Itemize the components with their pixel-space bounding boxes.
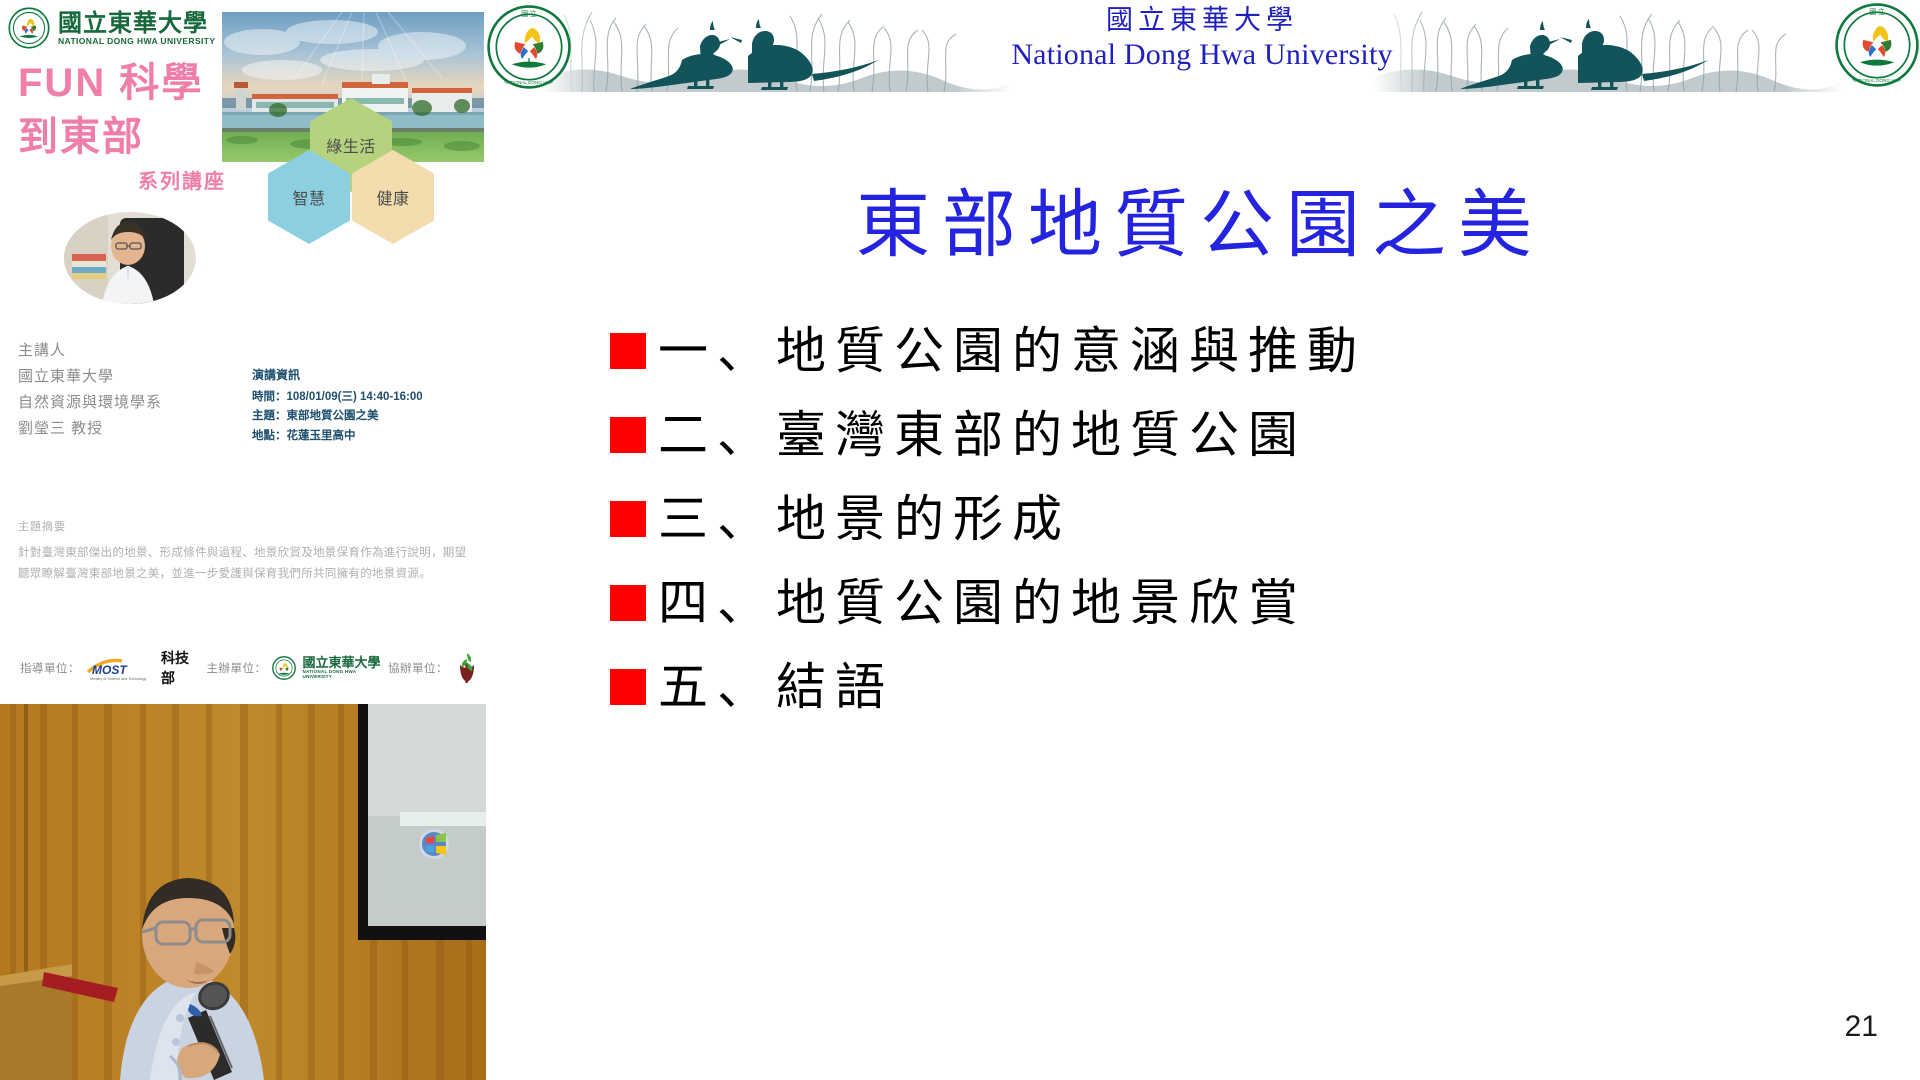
speaker-portrait <box>64 212 196 304</box>
poster-hexagon-group: 綠生活 智慧 健康 <box>262 98 462 228</box>
speaker-affiliation: 國立東華大學 <box>18 364 208 390</box>
bullet-marker-icon <box>610 585 646 621</box>
bullet-item: 二、臺灣東部的地質公園 <box>610 404 1870 466</box>
abstract-body: 針對臺灣東部傑出的地景、形成條件與過程、地景欣賞及地景保育作為進行說明，期望聽眾… <box>18 543 478 585</box>
bullet-marker-icon <box>610 333 646 369</box>
most-logo: MOST Ministry of Science and Technology <box>86 655 152 681</box>
host-name-cn: 國立東華大學 <box>302 657 382 670</box>
bullet-marker-icon <box>610 669 646 705</box>
bullet-marker-icon <box>610 417 646 453</box>
abstract-heading: 主題摘要 <box>18 518 478 534</box>
page-number: 21 <box>1845 1010 1878 1044</box>
advisor-label: 指導單位： <box>20 660 80 676</box>
slide-bullet-list: 一、地質公園的意涵與推動 二、臺灣東部的地質公園 三、地景的形成 四、地質公園的… <box>610 320 1870 740</box>
poster-logo-name-en: NATIONAL DONG HWA UNIVERSITY <box>58 37 215 46</box>
ndhu-seal-icon: 國 立 NATIONAL DONG HWA <box>1834 2 1920 88</box>
pheasant-grass-illustration-left <box>542 0 1012 92</box>
speaker-department: 自然資源與環境學系 <box>18 390 208 416</box>
event-poster: 國立東華大學 NATIONAL DONG HWA UNIVERSITY FUN … <box>0 0 486 702</box>
sprout-logo-icon <box>454 651 480 685</box>
svg-text:國 立: 國 立 <box>521 9 537 18</box>
svg-text:國 立: 國 立 <box>1869 7 1885 16</box>
bullet-item: 三、地景的形成 <box>610 488 1870 550</box>
slide-content: 東部地質公園之美 一、地質公園的意涵與推動 二、臺灣東部的地質公園 三、地景的形… <box>500 110 1920 1050</box>
speaker-info: 主講人 國立東華大學 自然資源與環境學系 劉瑩三 教授 <box>18 338 208 442</box>
ndhu-seal-icon: 國 立 NATIONAL DONG HWA <box>486 4 572 90</box>
poster-logo-name-cn: 國立東華大學 <box>58 11 215 35</box>
svg-text:Ministry of Science and Techno: Ministry of Science and Technology <box>90 677 146 681</box>
lecture-photo <box>0 704 486 1080</box>
svg-text:NATIONAL DONG HWA: NATIONAL DONG HWA <box>504 80 555 85</box>
abstract-block: 主題摘要 針對臺灣東部傑出的地景、形成條件與過程、地景欣賞及地景保育作為進行說明… <box>18 518 478 585</box>
host-name-en: NATIONAL DONG HWA UNIVERSITY <box>302 670 382 679</box>
ndhu-seal-icon <box>272 656 296 680</box>
bullet-text: 一、地質公園的意涵與推動 <box>658 326 1366 376</box>
header-banner: 國立東華大學 National Dong Hwa University <box>484 0 1920 100</box>
bullet-text: 二、臺灣東部的地質公園 <box>658 410 1307 460</box>
bullet-item: 一、地質公園的意涵與推動 <box>610 320 1870 382</box>
presentation-slide: 國立東華大學 National Dong Hwa University <box>0 0 1920 1080</box>
bullet-text: 四、地質公園的地景欣賞 <box>658 578 1307 628</box>
sponsor-row: 指導單位： MOST Ministry of Science and Techn… <box>20 648 480 688</box>
banner-background: 國立東華大學 National Dong Hwa University <box>484 0 1920 100</box>
talk-info-time: 時間：108/01/09(三) 14:40-16:00 <box>252 388 482 408</box>
advisor-name-cn: 科技部 <box>161 648 200 688</box>
ndhu-seal-icon <box>8 7 50 49</box>
coorganizer-label: 協辦單位： <box>388 660 448 676</box>
talk-info-venue: 地點：花蓮玉里高中 <box>252 427 482 447</box>
bullet-item: 五、結語 <box>610 656 1870 718</box>
slide-title: 東部地質公園之美 <box>500 165 1900 272</box>
talk-info-heading: 演講資訊 <box>252 366 482 386</box>
bullet-item: 四、地質公園的地景欣賞 <box>610 572 1870 634</box>
talk-info-topic: 主題：東部地質公園之美 <box>252 407 482 427</box>
bullet-marker-icon <box>610 501 646 537</box>
speaker-name: 劉瑩三 教授 <box>18 416 208 442</box>
series-title-line3: 系列講座 <box>18 172 248 192</box>
talk-info-block: 演講資訊 時間：108/01/09(三) 14:40-16:00 主題：東部地質… <box>252 366 482 446</box>
speaker-role: 主講人 <box>18 338 208 364</box>
bullet-text: 三、地景的形成 <box>658 494 1071 544</box>
host-label: 主辦單位： <box>206 660 266 676</box>
series-title-line2: 到東部 <box>18 116 248 158</box>
pheasant-grass-illustration-right <box>1372 0 1842 92</box>
svg-text:MOST: MOST <box>92 663 128 677</box>
svg-text:NATIONAL DONG HWA: NATIONAL DONG HWA <box>1852 78 1903 83</box>
bullet-text: 五、結語 <box>658 662 894 712</box>
poster-series-title: FUN 科學 到東部 系列講座 <box>18 62 248 192</box>
series-title-line1: FUN 科學 <box>18 62 248 104</box>
